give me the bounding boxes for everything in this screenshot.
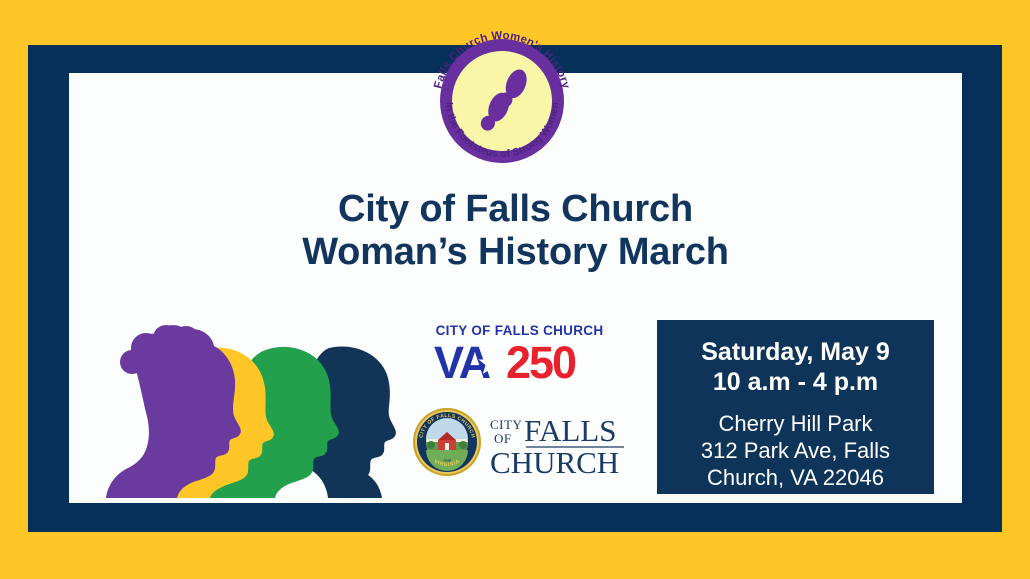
four-women-profiles-illustration <box>86 318 408 498</box>
va250-top-line: CITY OF FALLS CHURCH <box>432 324 607 338</box>
event-info-box: Saturday, May 9 10 a.m - 4 p.m Cherry Hi… <box>657 320 934 494</box>
event-address-line-2: Church, VA 22046 <box>667 465 924 492</box>
event-location: Cherry Hill Park 312 Park Ave, Falls Chu… <box>667 411 924 491</box>
va250-number-text: 250 <box>506 340 576 384</box>
va250-wordmark: VA 250 <box>432 340 607 384</box>
city-of-falls-church-logo: 1948 CITY OF FALLS CHURCH VIRGINIA CITY … <box>412 404 627 480</box>
wordmark-church: CHURCH <box>490 445 619 477</box>
poster-title-line-1: City of Falls Church <box>69 188 962 231</box>
event-datetime: Saturday, May 9 10 a.m - 4 p.m <box>667 338 924 397</box>
womens-history-badge: Falls Church Women's History In the Foot… <box>417 23 587 168</box>
poster-title-line-2: Woman’s History March <box>69 231 962 274</box>
event-date: Saturday, May 9 <box>667 338 924 368</box>
event-poster: Falls Church Women's History In the Foot… <box>0 0 1030 579</box>
event-venue: Cherry Hill Park <box>667 411 924 438</box>
va250-logo: CITY OF FALLS CHURCH VA 250 <box>432 324 607 386</box>
event-time: 10 a.m - 4 p.m <box>667 368 924 398</box>
wordmark-falls: FALLS <box>524 413 616 448</box>
poster-title: City of Falls Church Woman’s History Mar… <box>69 188 962 275</box>
city-wordmark: CITY OF FALLS CHURCH <box>488 407 628 477</box>
wordmark-of: OF <box>494 431 512 446</box>
city-seal-icon: 1948 CITY OF FALLS CHURCH VIRGINIA <box>412 407 482 477</box>
wordmark-city: CITY <box>490 417 522 432</box>
event-address-line-1: 312 Park Ave, Falls <box>667 438 924 465</box>
